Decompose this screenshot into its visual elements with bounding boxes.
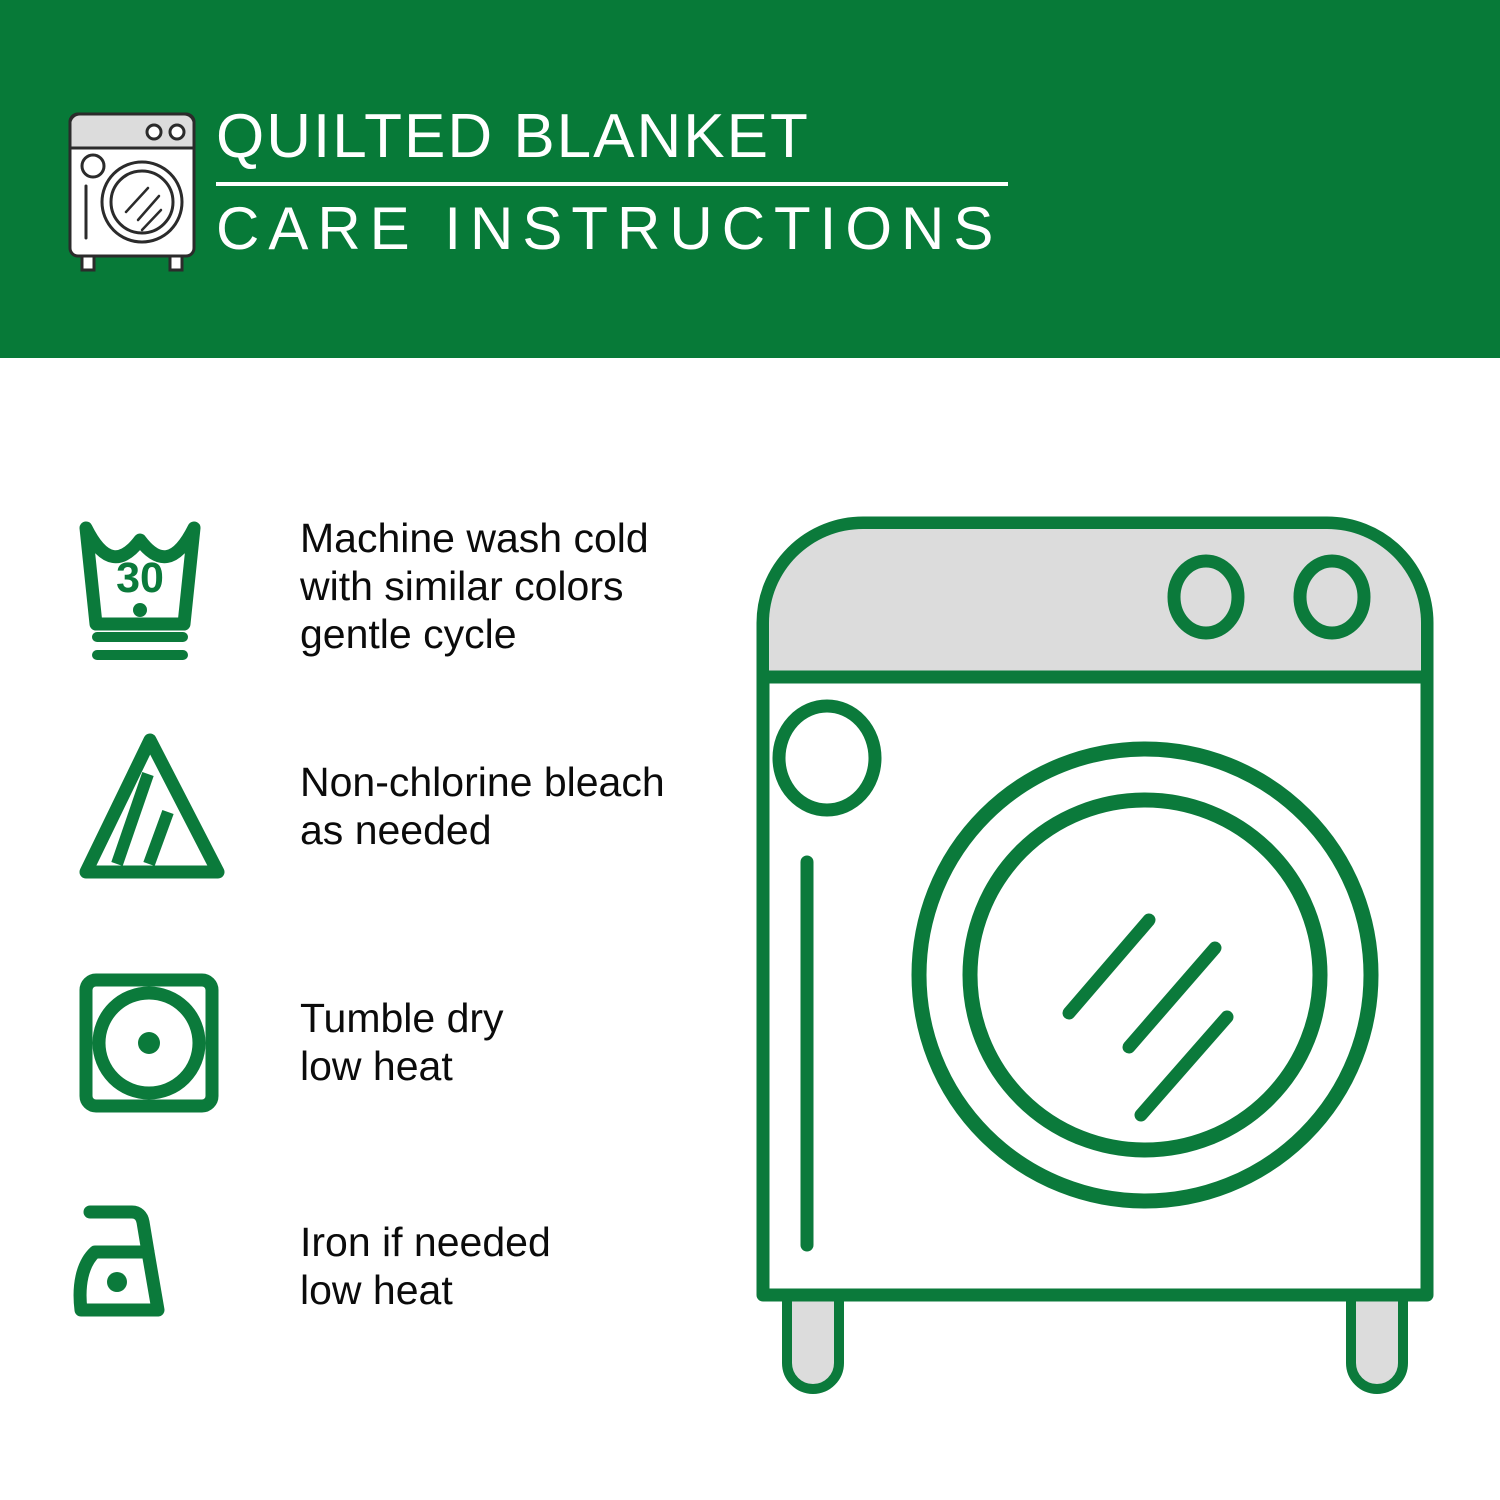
front-load-washing-machine-illustration <box>735 495 1455 1415</box>
title-divider <box>216 182 1008 186</box>
care-instructions-page: QUILTED BLANKET CARE INSTRUCTIONS 30 Mac… <box>0 0 1500 1500</box>
care-item-label: Machine wash cold with similar colors ge… <box>300 514 649 658</box>
header-band: QUILTED BLANKET CARE INSTRUCTIONS <box>0 0 1500 358</box>
care-item-iron: Iron if needed low heat <box>72 1186 712 1346</box>
detergent-dispenser-icon <box>779 706 875 810</box>
tumble-dry-low-icon <box>72 962 240 1122</box>
care-item-label: Non-chlorine bleach as needed <box>300 758 665 854</box>
page-subtitle: CARE INSTRUCTIONS <box>216 196 1016 262</box>
wash-temperature-value: 30 <box>116 554 164 602</box>
header-title-block: QUILTED BLANKET CARE INSTRUCTIONS <box>216 100 1016 262</box>
washer-knob-1[interactable] <box>1174 561 1238 633</box>
non-chlorine-bleach-icon <box>72 726 240 886</box>
care-item-bleach: Non-chlorine bleach as needed <box>72 726 712 886</box>
iron-low-heat-icon <box>72 1186 240 1346</box>
care-item-label: Iron if needed low heat <box>300 1218 551 1314</box>
washer-knob-2[interactable] <box>1300 561 1364 633</box>
washing-machine-icon <box>62 104 202 274</box>
machine-wash-30-gentle-icon: 30 <box>72 506 240 666</box>
care-item-machine-wash: 30 Machine wash cold with similar colors… <box>72 506 712 666</box>
care-item-label: Tumble dry low heat <box>300 994 504 1090</box>
care-item-tumble-dry: Tumble dry low heat <box>72 962 712 1122</box>
page-title: QUILTED BLANKET <box>216 100 1016 174</box>
